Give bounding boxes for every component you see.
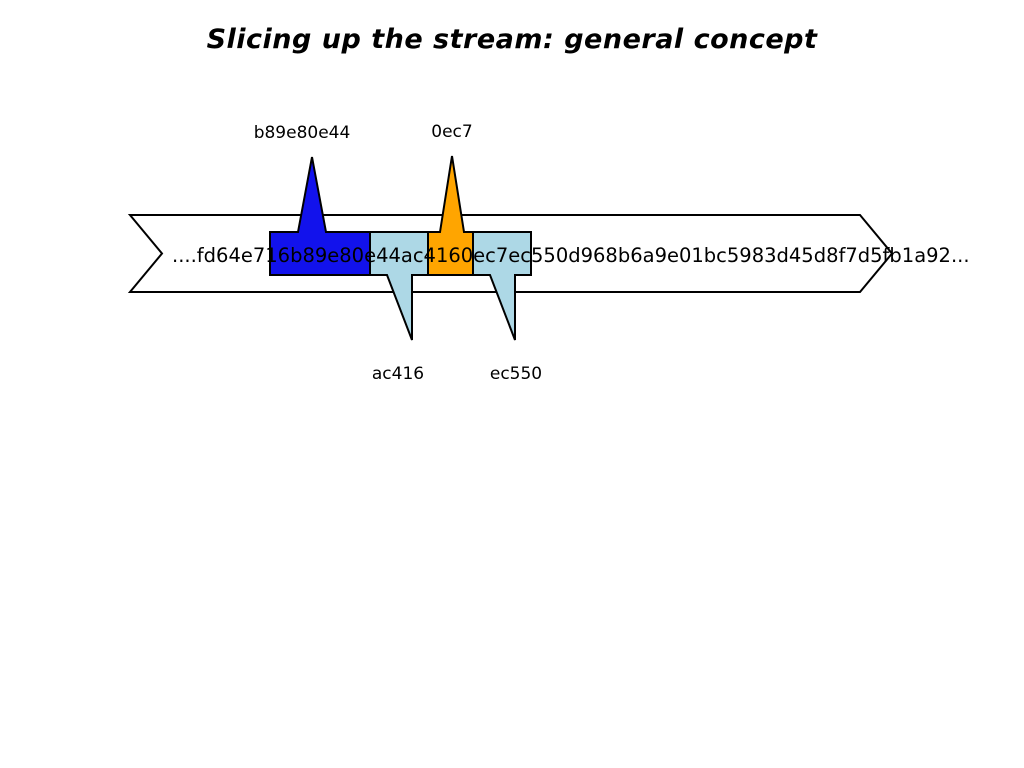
label-ec550: ec550 (490, 364, 542, 384)
label-0ec7: 0ec7 (431, 122, 472, 142)
stream-hex-text: ....fd64e716b89e80e44ac4160ec7ec550d968b… (172, 244, 970, 267)
label-b89e80e44: b89e80e44 (254, 123, 351, 143)
label-ac416: ac416 (372, 364, 424, 384)
diagram-svg: ....fd64e716b89e80e44ac4160ec7ec550d968b… (0, 0, 1024, 768)
slide-canvas: Slicing up the stream: general concept .… (0, 0, 1024, 768)
stream-slicing-diagram: ....fd64e716b89e80e44ac4160ec7ec550d968b… (0, 0, 1024, 768)
